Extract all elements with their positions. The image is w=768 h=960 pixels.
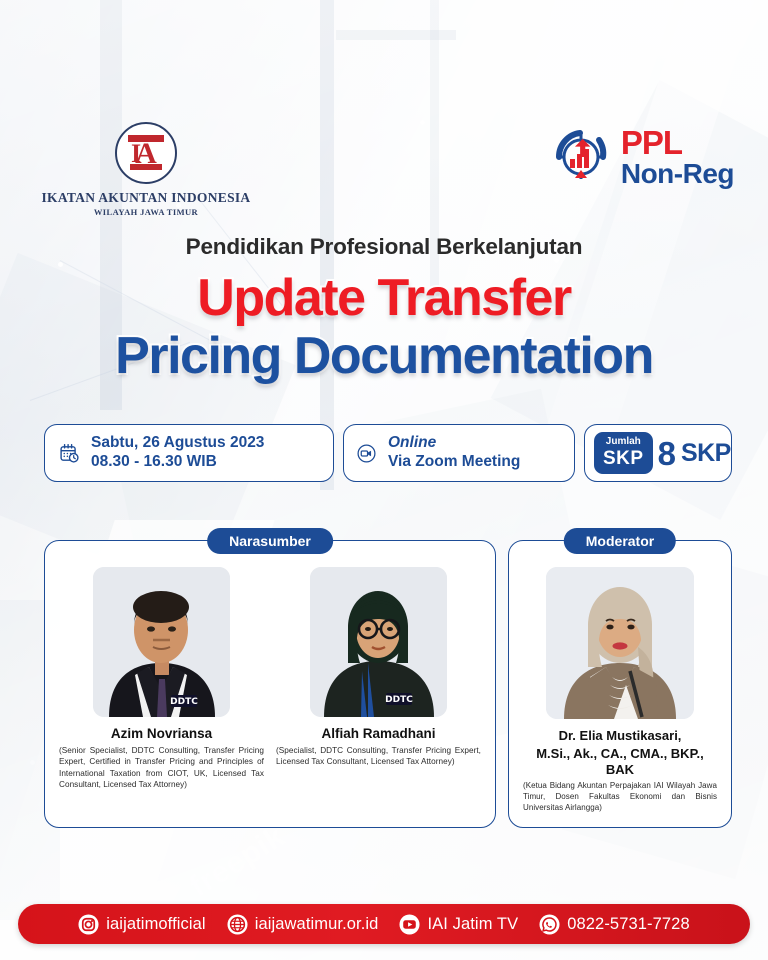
ppl-nonreg-label: Non-Reg xyxy=(621,160,734,188)
footer-website-label: iaijawatimur.or.id xyxy=(255,915,379,934)
speakers-badge: Narasumber xyxy=(207,528,333,554)
footer-website[interactable]: iaijawatimur.or.id xyxy=(227,914,379,935)
whatsapp-icon xyxy=(539,914,560,935)
moderator-name-line2: M.Si., Ak., CA., CMA., BKP., BAK xyxy=(523,746,717,777)
moderator-card: Dr. Elia Mustikasari, M.Si., Ak., CA., C… xyxy=(519,567,721,813)
speaker-bio-1: (Senior Specialist, DDTC Consulting, Tra… xyxy=(59,745,264,790)
footer-whatsapp-label: 0822-5731-7728 xyxy=(567,915,690,934)
calendar-clock-icon xyxy=(59,443,80,464)
speaker-card: DDTC Alfiah Ramadhani (Specialist, DDTC … xyxy=(272,567,485,813)
footer-instagram[interactable]: iaijatimofficial xyxy=(78,914,205,935)
iai-org-name: IKATAN AKUNTAN INDONESIA xyxy=(36,190,256,206)
moderator-name-line1: Dr. Elia Mustikasari, xyxy=(523,728,717,743)
skp-card: Jumlah SKP 8 SKP xyxy=(584,424,732,482)
iai-logo: I A IKATAN AKUNTAN INDONESIA WILAYAH JAW… xyxy=(36,122,256,217)
moderator-panel: Moderator xyxy=(508,540,732,828)
svg-text:DDTC: DDTC xyxy=(385,695,413,705)
iai-org-region: WILAYAH JAWA TIMUR xyxy=(36,207,256,217)
skp-unit: SKP xyxy=(681,441,731,466)
event-date: Sabtu, 26 Agustus 2023 xyxy=(91,434,264,453)
globe-icon xyxy=(227,914,248,935)
mode-card: Online Via Zoom Meeting xyxy=(343,424,575,482)
skp-badge-large: SKP xyxy=(603,449,644,468)
people-section: Narasumber xyxy=(44,540,732,828)
moderator-photo xyxy=(546,567,694,719)
ppl-logo: PPL Non-Reg xyxy=(550,126,734,188)
footer-instagram-label: iaijatimofficial xyxy=(106,915,205,934)
speaker-name-2: Alfiah Ramadhani xyxy=(276,726,481,742)
skp-badge: Jumlah SKP xyxy=(594,432,653,474)
date-time-card: Sabtu, 26 Agustus 2023 08.30 - 16.30 WIB xyxy=(44,424,334,482)
ppl-growth-chart-icon xyxy=(550,126,612,188)
event-kicker: Pendidikan Profesional Berkelanjutan xyxy=(0,234,768,260)
speaker-card: DDTC Azim Novriansa (Senior Specialist, … xyxy=(55,567,268,813)
footer-youtube[interactable]: IAI Jatim TV xyxy=(399,914,518,935)
footer-whatsapp[interactable]: 0822-5731-7728 xyxy=(539,914,690,935)
skp-badge-small: Jumlah xyxy=(603,437,644,447)
event-info-bar: Sabtu, 26 Agustus 2023 08.30 - 16.30 WIB… xyxy=(44,424,732,482)
svg-text:DDTC: DDTC xyxy=(170,697,198,707)
event-mode: Online xyxy=(388,434,520,453)
ppl-label: PPL xyxy=(621,126,734,159)
contact-footer: iaijatimofficial iaijawatimur.or.id IAI … xyxy=(18,904,750,944)
event-platform: Via Zoom Meeting xyxy=(388,453,520,472)
speaker-name-1: Azim Novriansa xyxy=(59,726,264,742)
event-title-line2: Pricing Documentation xyxy=(0,330,768,382)
poster-canvas: freepik I A IKATAN AKUNTAN INDONESIA WIL… xyxy=(0,0,768,960)
speakers-panel: Narasumber xyxy=(44,540,496,828)
video-camera-icon xyxy=(356,443,377,464)
youtube-icon xyxy=(399,914,420,935)
speaker-photo-1: DDTC xyxy=(93,567,230,717)
speaker-bio-2: (Specialist, DDTC Consulting, Transfer P… xyxy=(276,745,481,768)
speaker-photo-2: DDTC xyxy=(310,567,447,717)
event-title-line1: Update Transfer xyxy=(0,272,768,324)
instagram-icon xyxy=(78,914,99,935)
event-time: 08.30 - 16.30 WIB xyxy=(91,453,264,472)
iai-emblem-icon: I A xyxy=(115,122,177,184)
moderator-bio: (Ketua Bidang Akuntan Perpajakan IAI Wil… xyxy=(523,780,717,813)
moderator-badge: Moderator xyxy=(564,528,676,554)
skp-value: 8 xyxy=(658,437,676,470)
footer-youtube-label: IAI Jatim TV xyxy=(427,915,518,934)
